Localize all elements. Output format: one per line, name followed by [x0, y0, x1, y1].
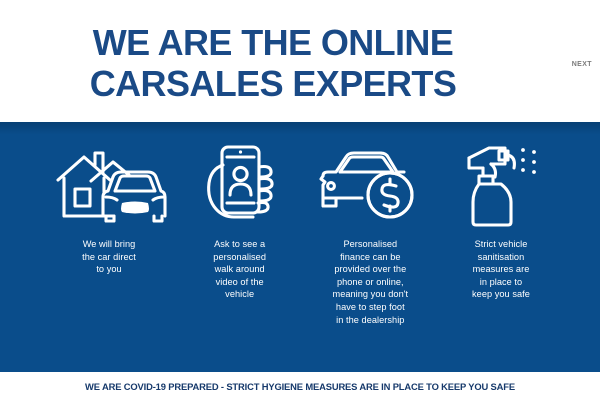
feature-item-finance: Personalised finance can be provided ove…: [311, 122, 429, 326]
feature-caption: We will bring the car direct to you: [50, 238, 168, 276]
car-dollar-icon: [311, 122, 429, 232]
header: WE ARE THE ONLINE CARSALES EXPERTS NEXT: [0, 0, 600, 122]
house-car-icon: [50, 122, 168, 232]
feature-item-sanitisation: Strict vehicle sanitisation measures are…: [442, 122, 560, 301]
footer-banner: WE ARE COVID-19 PREPARED - STRICT HYGIEN…: [0, 372, 600, 400]
spray-bottle-icon: [442, 122, 560, 232]
phone-video-person-icon: [181, 122, 299, 232]
promo-slide: WE ARE THE ONLINE CARSALES EXPERTS NEXT: [0, 0, 600, 400]
feature-item-walkaround-video: Ask to see a personalised walk around vi…: [181, 122, 299, 301]
feature-item-home-delivery: We will bring the car direct to you: [50, 122, 168, 276]
feature-caption: Personalised finance can be provided ove…: [311, 238, 429, 326]
features-list: We will bring the car direct to you: [50, 122, 560, 372]
features-panel: We will bring the car direct to you: [0, 122, 600, 372]
next-button[interactable]: NEXT: [572, 61, 592, 68]
page-title: WE ARE THE ONLINE CARSALES EXPERTS: [0, 22, 546, 104]
footer-banner-text: WE ARE COVID-19 PREPARED - STRICT HYGIEN…: [85, 381, 515, 392]
feature-caption: Ask to see a personalised walk around vi…: [181, 238, 299, 301]
feature-caption: Strict vehicle sanitisation measures are…: [442, 238, 560, 301]
